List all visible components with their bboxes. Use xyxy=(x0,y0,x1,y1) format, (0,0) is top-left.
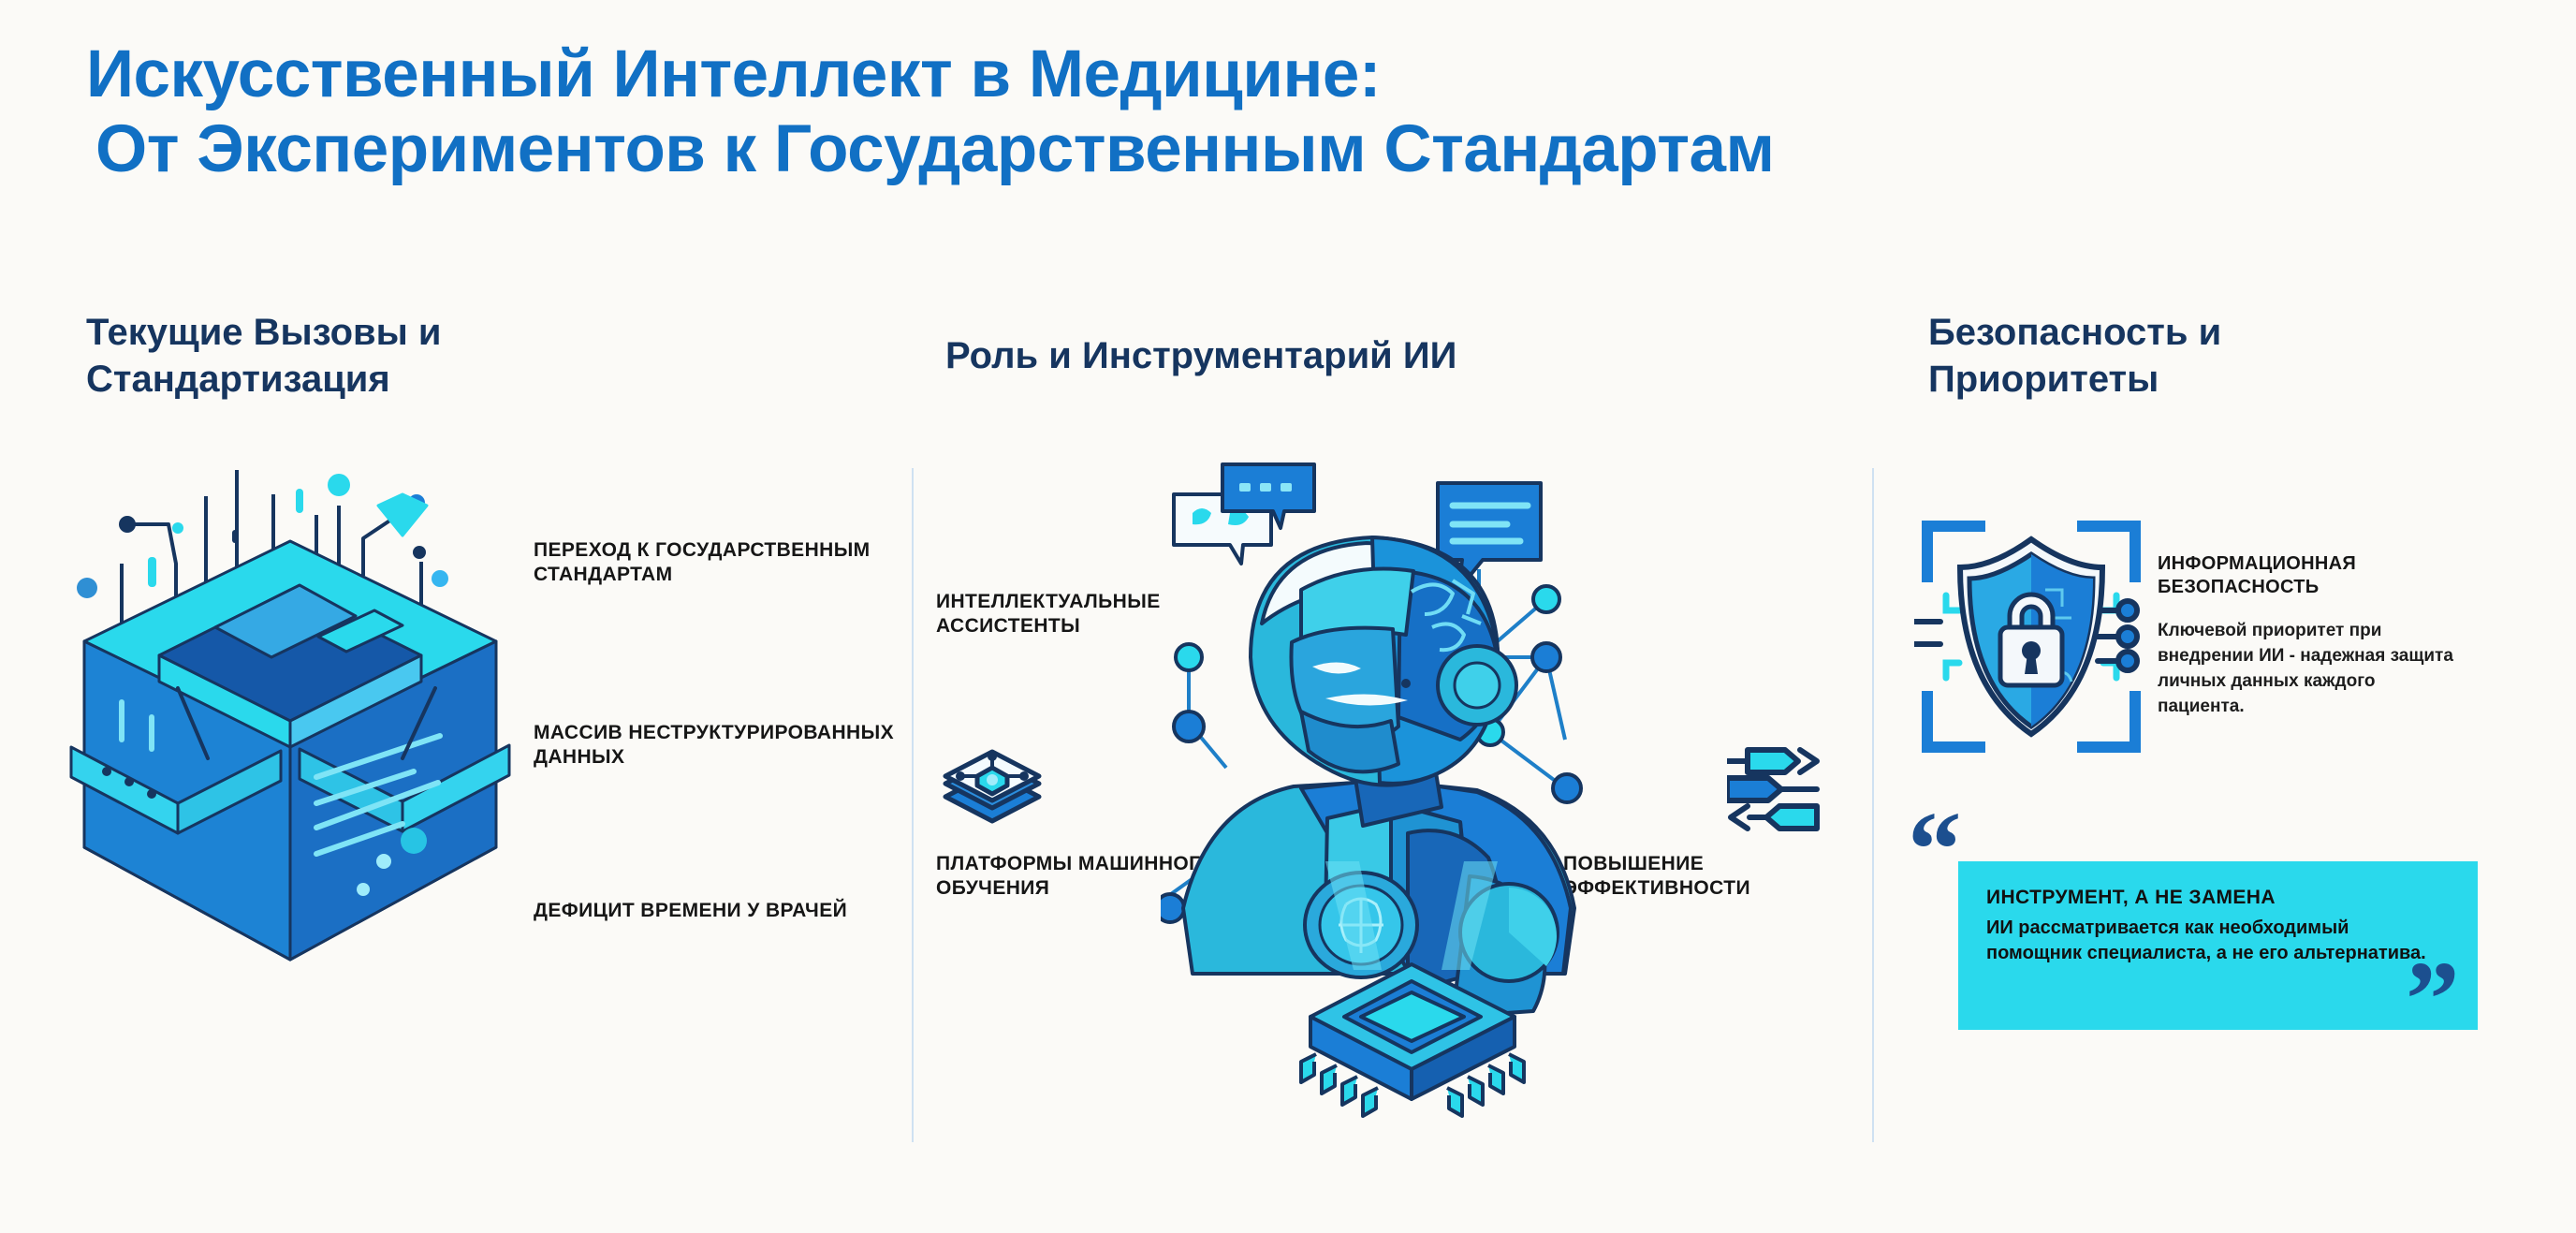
column-right-heading: Безопасность и Приоритеты xyxy=(1928,309,2452,403)
column-left-heading: Текущие Вызовы и Стандартизация xyxy=(86,309,741,403)
quote-headline: ИНСТРУМЕНТ, А НЕ ЗАМЕНА xyxy=(1986,886,2450,910)
title-line-1: Искусственный Интеллект в Медицине: xyxy=(86,37,2482,112)
column-divider-left xyxy=(912,468,914,1142)
ai-robot-bust-icon xyxy=(1161,459,1647,1133)
shield-lock-icon xyxy=(1914,506,2148,768)
security-title: ИНФОРМАЦИОННАЯ БЕЗОПАСНОСТЬ xyxy=(2158,552,2466,599)
column-middle-heading: Роль и Инструментарий ИИ xyxy=(945,332,1788,379)
left-item-1: ПЕРЕХОД К ГОСУДАРСТВЕННЫМ СТАНДАРТАМ xyxy=(534,538,908,587)
quote-callout: ИНСТРУМЕНТ, А НЕ ЗАМЕНА ИИ рассматривает… xyxy=(1958,861,2478,1030)
page-title: Искусственный Интеллект в Медицине: От Э… xyxy=(86,37,2482,187)
quote-body: ИИ рассматривается как необходимый помощ… xyxy=(1986,916,2450,966)
left-item-1-label: ПЕРЕХОД К ГОСУДАРСТВЕННЫМ СТАНДАРТАМ xyxy=(534,538,908,587)
left-item-2: МАССИВ НЕСТРУКТУРИРОВАННЫХ ДАННЫХ xyxy=(534,721,908,770)
isometric-data-cube-icon xyxy=(66,449,515,974)
title-line-2: От Экспериментов к Государственным Станд… xyxy=(86,112,2482,187)
column-right: Безопасность и Приоритеты xyxy=(1928,309,2452,403)
left-item-2-label: МАССИВ НЕСТРУКТУРИРОВАННЫХ ДАННЫХ xyxy=(534,721,908,770)
left-item-3: ДЕФИЦИТ ВРЕМЕНИ У ВРАЧЕЙ xyxy=(534,899,908,923)
security-body: Ключевой приоритет при внедрении ИИ - на… xyxy=(2158,618,2466,719)
flow-arrows-icon xyxy=(1727,744,1849,833)
layers-stack-icon xyxy=(936,744,1048,833)
security-title-label: ИНФОРМАЦИОННАЯ БЕЗОПАСНОСТЬ xyxy=(2158,552,2466,599)
infographic-page: Искусственный Интеллект в Медицине: От Э… xyxy=(0,0,2576,1233)
column-middle: Роль и Инструментарий ИИ xyxy=(945,332,1788,379)
quote-open-mark: “ xyxy=(1908,796,1962,903)
left-item-3-label: ДЕФИЦИТ ВРЕМЕНИ У ВРАЧЕЙ xyxy=(534,899,908,923)
column-divider-right xyxy=(1872,468,1874,1142)
column-left: Текущие Вызовы и Стандартизация xyxy=(86,309,741,403)
quote-close-mark: ” xyxy=(2406,946,2460,1053)
